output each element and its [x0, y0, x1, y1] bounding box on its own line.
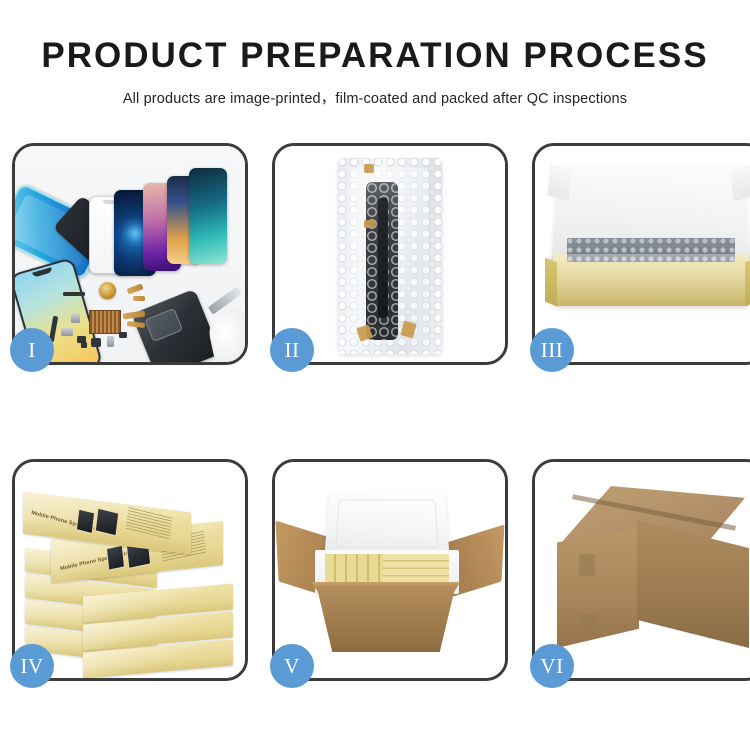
step-badge-4: IV — [10, 644, 54, 688]
step-5-image — [275, 462, 505, 678]
carton-tape-lower — [581, 614, 597, 636]
carton-right-face — [637, 520, 749, 648]
step-panel-6: VI — [532, 459, 750, 681]
small-part — [81, 342, 87, 348]
box-tray — [553, 254, 749, 306]
page-subtitle: All products are image-printed，film-coat… — [0, 87, 750, 108]
product-preparation-infographic: { "header": { "title": "PRODUCT PREPARAT… — [0, 0, 750, 750]
flex-cable-part — [133, 296, 145, 301]
carton-front-wall — [307, 586, 465, 652]
step-panel-5: V — [272, 459, 508, 681]
lid-flap-left — [548, 164, 571, 201]
page-title: PRODUCT PREPARATION PROCESS — [0, 38, 750, 75]
step-6-image — [535, 462, 750, 678]
lid-flap-right — [731, 164, 750, 201]
box-window-image — [95, 508, 120, 537]
carton-left-face — [557, 528, 639, 648]
box-stack: Mobile Phone Spare Parts Mobile Phone Sp… — [23, 472, 243, 672]
copper-coil-part — [99, 282, 116, 299]
phone-teal-display — [189, 168, 227, 264]
step-1-image — [15, 146, 245, 362]
small-part — [119, 332, 127, 338]
step-panel-4: Mobile Phone Spare Parts Mobile Phone Sp… — [12, 459, 248, 681]
step-3-image — [535, 146, 750, 362]
flex-cable — [378, 198, 388, 318]
step-badge-6: VI — [530, 644, 574, 688]
box-window-image — [76, 509, 96, 535]
tape-piece — [364, 164, 374, 173]
step-badge-5: V — [270, 644, 314, 688]
step-panel-1: I — [12, 143, 248, 365]
tray-side-right — [745, 258, 750, 307]
step-badge-3: III — [530, 328, 574, 372]
step-badge-2: II — [270, 328, 314, 372]
small-part — [61, 328, 73, 336]
small-part — [71, 314, 80, 323]
step-4-image: Mobile Phone Spare Parts Mobile Phone Sp… — [15, 462, 245, 678]
step-2-image — [275, 146, 505, 362]
small-part — [91, 338, 101, 347]
tape-piece — [364, 220, 375, 228]
step-panel-2: II — [272, 143, 508, 365]
chip-grid-part — [89, 310, 121, 334]
foam-box-lid — [324, 493, 449, 557]
bubble-wrap-bag — [338, 158, 442, 354]
small-part — [63, 292, 85, 296]
carton-tape-upper — [579, 554, 595, 576]
foam-lid-rim — [335, 500, 438, 548]
tray-side-left — [545, 258, 557, 307]
box-window-image — [106, 545, 125, 571]
step-panel-3: III — [532, 143, 750, 365]
small-part — [107, 336, 114, 347]
header: PRODUCT PREPARATION PROCESS All products… — [0, 0, 750, 108]
tray-face — [553, 254, 749, 306]
process-steps-grid: I II — [12, 143, 738, 681]
step-badge-1: I — [10, 328, 54, 372]
